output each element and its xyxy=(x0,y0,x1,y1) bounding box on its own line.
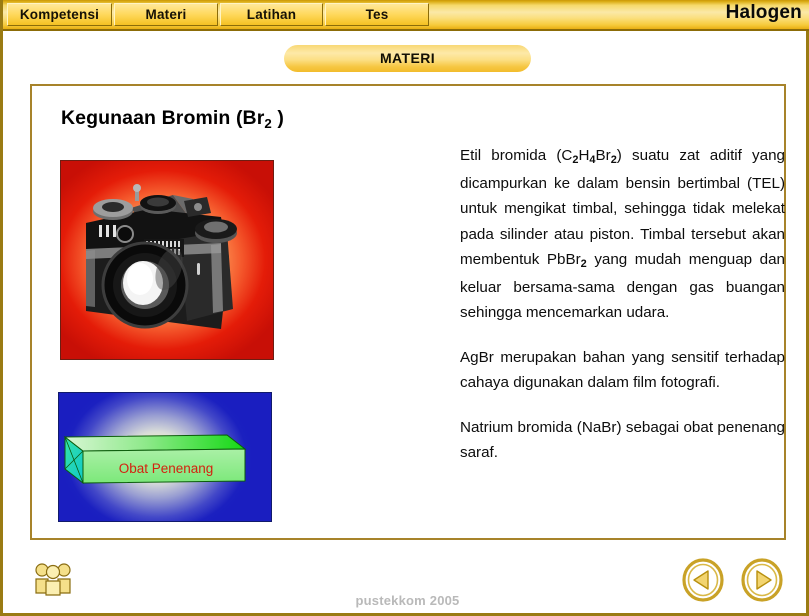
body-text: Etil bromida (C2H4Br2) suatu zat aditif … xyxy=(460,143,785,466)
people-group-icon[interactable] xyxy=(33,561,73,597)
content-panel: Kegunaan Bromin (Br2 ) xyxy=(30,84,786,540)
footer-bar: pustekkom 2005 xyxy=(3,545,809,616)
tab-row: Kompetensi Materi Latihan Tes xyxy=(7,3,429,26)
text-segment: Br xyxy=(596,147,611,164)
page-title: Kegunaan Bromin (Br2 ) xyxy=(61,107,284,130)
tab-latihan[interactable]: Latihan xyxy=(220,3,323,26)
page-title-tail: ) xyxy=(272,107,284,129)
camera-icon xyxy=(61,161,273,359)
paragraph-agbr: AgBr merupakan bahan yang sensitif terha… xyxy=(460,345,785,396)
top-navigation-bar: Kompetensi Materi Latihan Tes Halogen xyxy=(3,0,809,31)
subscript: 2 xyxy=(581,258,587,270)
text-segment: Etil bromida (C xyxy=(460,147,572,164)
tab-kompetensi[interactable]: Kompetensi xyxy=(7,3,112,26)
application-frame: Kompetensi Materi Latihan Tes Halogen MA… xyxy=(0,0,809,616)
camera-figure xyxy=(60,160,274,360)
text-segment: H xyxy=(578,147,589,164)
page-title-subscript: 2 xyxy=(264,116,271,131)
arrow-right-icon xyxy=(740,558,784,602)
next-button[interactable] xyxy=(740,558,784,602)
previous-button[interactable] xyxy=(681,558,725,602)
tab-tes[interactable]: Tes xyxy=(325,3,429,26)
section-title-pill: MATERI xyxy=(284,45,531,72)
text-segment: ) suatu zat aditif yang dicampurkan ke d… xyxy=(460,147,785,268)
paragraph-nabr: Natrium bromida (NaBr) sebagai obat pene… xyxy=(460,415,785,466)
arrow-left-icon xyxy=(681,558,725,602)
app-title: Halogen xyxy=(726,2,802,24)
subscript: 2 xyxy=(611,154,617,166)
medicine-figure: Obat Penenang xyxy=(58,392,272,522)
medicine-box-icon xyxy=(59,393,271,521)
page-title-text: Kegunaan Bromin (Br xyxy=(61,107,264,129)
paragraph-etil-bromida: Etil bromida (C2H4Br2) suatu zat aditif … xyxy=(460,143,785,326)
subscript: 2 xyxy=(572,154,578,166)
tab-materi[interactable]: Materi xyxy=(114,3,218,26)
subscript: 4 xyxy=(589,154,595,166)
